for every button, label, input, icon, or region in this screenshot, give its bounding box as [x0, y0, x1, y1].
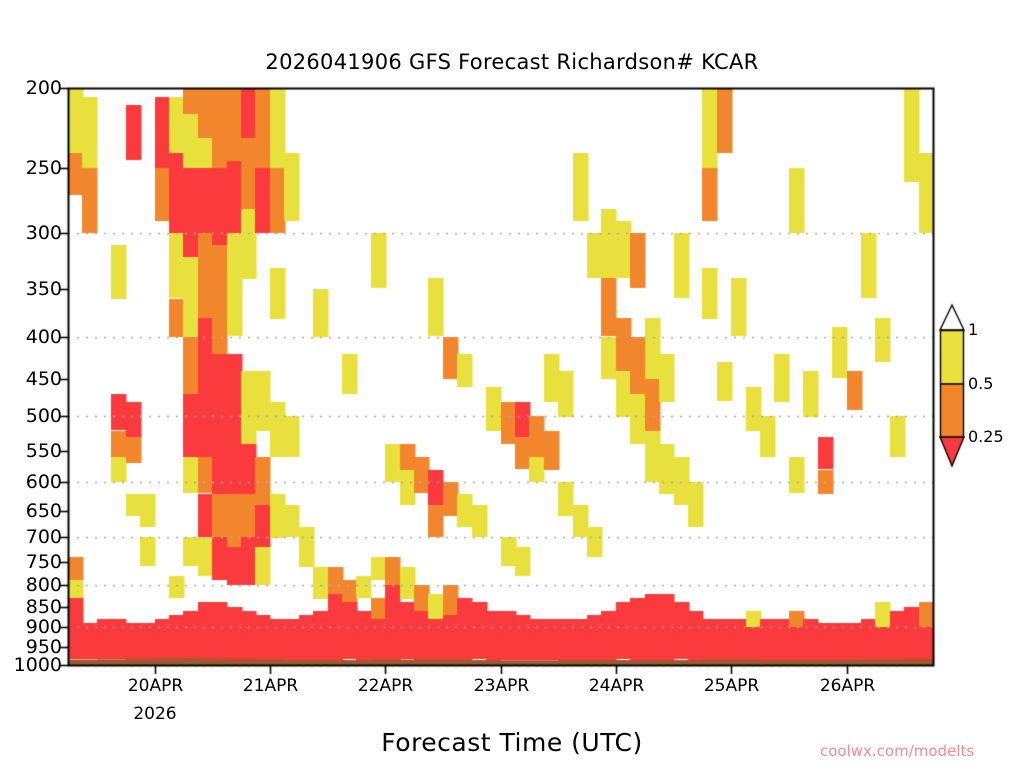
y-axis-tick-label: 350 [0, 278, 62, 300]
y-axis-tick-label: 400 [0, 326, 62, 348]
y-axis-tick-label: 850 [0, 596, 62, 618]
y-axis-tick-label: 750 [0, 551, 62, 573]
x-axis-tick-label: 20APR [101, 676, 211, 696]
richardson-number-heatmap-canvas [0, 0, 1024, 768]
x-axis-year-label: 2026 [100, 704, 210, 724]
x-axis-tick-label: 25APR [677, 676, 787, 696]
y-axis-tick-label: 200 [0, 77, 62, 99]
y-axis-tick-label: 900 [0, 616, 62, 638]
x-axis-tick-label: 26APR [793, 676, 903, 696]
colorbar-tick-label: 1 [968, 320, 1024, 339]
y-axis-tick-label: 550 [0, 440, 62, 462]
x-axis-tick-label: 24APR [562, 676, 672, 696]
watermark: coolwx.com/modelts [820, 742, 974, 760]
y-axis-tick-label: 250 [0, 157, 62, 179]
y-axis-tick-label: 500 [0, 405, 62, 427]
colorbar-tick-label: 0.5 [968, 374, 1024, 393]
x-axis-tick-label: 21APR [216, 676, 326, 696]
y-axis-tick-label: 700 [0, 526, 62, 548]
y-axis-tick-label: 600 [0, 471, 62, 493]
colorbar-tick-label: 0.25 [968, 427, 1024, 446]
y-axis-tick-label: 650 [0, 500, 62, 522]
y-axis-tick-label: 1000 [0, 654, 62, 676]
x-axis-tick-label: 23APR [447, 676, 557, 696]
y-axis-tick-label: 300 [0, 222, 62, 244]
y-axis-tick-label: 800 [0, 574, 62, 596]
chart-title: 2026041906 GFS Forecast Richardson# KCAR [0, 50, 1024, 74]
x-axis-tick-label: 22APR [331, 676, 441, 696]
chart-root: 2026041906 GFS Forecast Richardson# KCAR… [0, 0, 1024, 768]
y-axis-tick-label: 450 [0, 368, 62, 390]
